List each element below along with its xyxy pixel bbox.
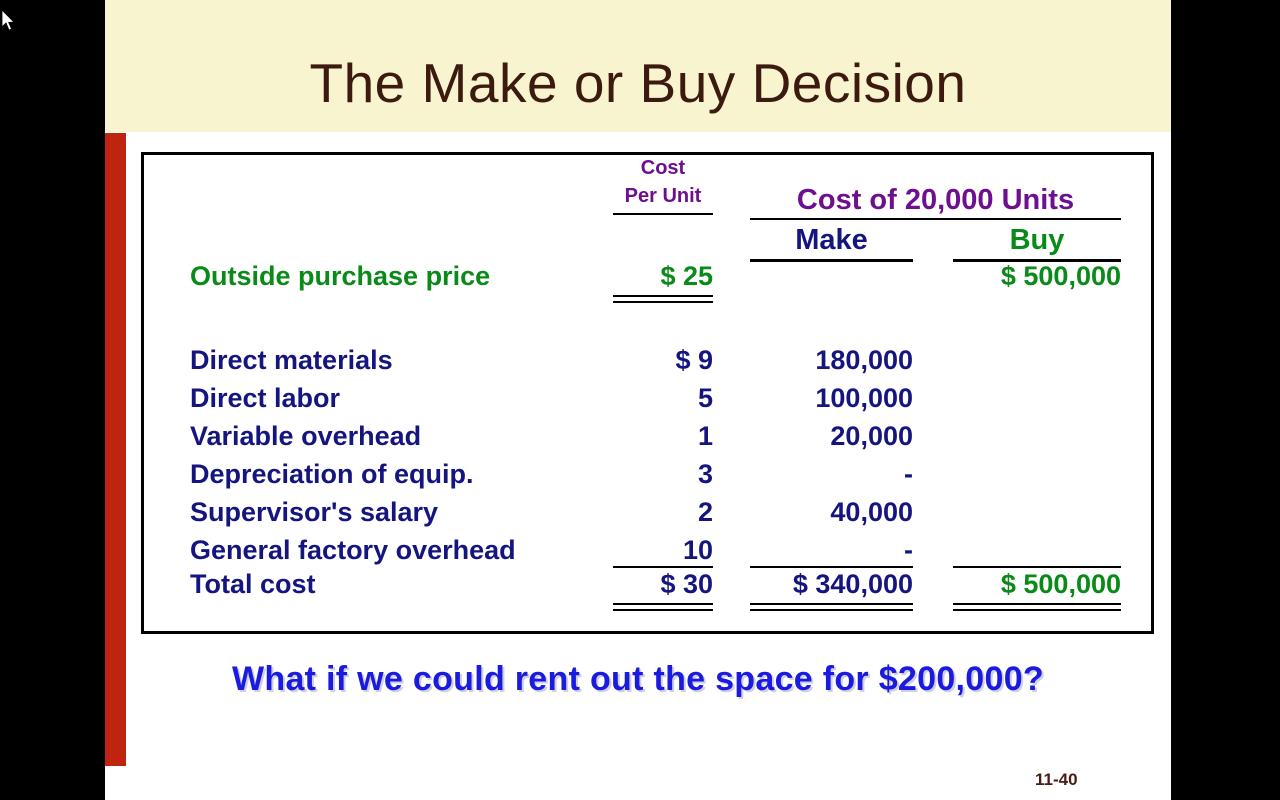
total-per-unit: $ 30 — [613, 569, 713, 600]
row-per-unit: 3 — [613, 459, 713, 490]
table-row: Direct materials $ 9 180,000 — [144, 345, 1151, 387]
row-make: - — [750, 535, 979, 566]
header-cost-of-units: Cost of 20,000 Units — [750, 184, 1121, 217]
table-row: Depreciation of equip. 3 - — [144, 459, 1151, 501]
rule-subtotal-per-unit — [613, 566, 713, 568]
double-rule-bottom-total-per-unit — [613, 609, 713, 611]
row-per-unit: $ 25 — [613, 261, 713, 292]
row-label: Depreciation of equip. — [190, 459, 600, 490]
row-buy: $ 500,000 — [953, 261, 1121, 292]
row-make: 180,000 — [750, 345, 913, 376]
make-or-buy-table: Cost Per Unit Cost of 20,000 Units Make … — [141, 152, 1154, 634]
table-row: Direct labor 5 100,000 — [144, 383, 1151, 425]
row-label: Outside purchase price — [190, 261, 600, 292]
table-row: Supervisor's salary 2 40,000 — [144, 497, 1151, 539]
row-per-unit: 1 — [613, 421, 713, 452]
rule-subtotal-buy — [953, 566, 1121, 568]
double-rule-top-outside-price — [613, 295, 713, 297]
row-per-unit: 5 — [613, 383, 713, 414]
row-label: Direct labor — [190, 383, 600, 414]
total-label: Total cost — [190, 569, 600, 600]
row-make: 40,000 — [750, 497, 913, 528]
header-make: Make — [750, 224, 913, 257]
row-label: Variable overhead — [190, 421, 600, 452]
row-label: General factory overhead — [190, 535, 600, 566]
row-make: 20,000 — [750, 421, 913, 452]
presentation-slide: The Make or Buy Decision Cost Per Unit C… — [105, 0, 1171, 800]
double-rule-top-total-buy — [953, 603, 1121, 605]
double-rule-top-total-per-unit — [613, 603, 713, 605]
slide-question: What if we could rent out the space for … — [105, 660, 1171, 699]
rule-subtotal-make — [750, 566, 913, 568]
row-label: Supervisor's salary — [190, 497, 600, 528]
double-rule-bottom-total-make — [750, 609, 913, 611]
row-label: Direct materials — [190, 345, 600, 376]
rule-cost-of-units — [750, 218, 1121, 220]
header-per-unit: Per Unit — [613, 185, 713, 208]
header-cost: Cost — [613, 157, 713, 180]
rule-per-unit — [613, 213, 713, 215]
double-rule-top-total-make — [750, 603, 913, 605]
row-per-unit: 2 — [613, 497, 713, 528]
row-make: - — [750, 459, 979, 490]
table-row: Variable overhead 1 20,000 — [144, 421, 1151, 463]
header-buy: Buy — [953, 224, 1121, 257]
total-buy: $ 500,000 — [953, 569, 1121, 600]
page-title: The Make or Buy Decision — [105, 52, 1171, 114]
row-per-unit: 10 — [613, 535, 713, 566]
double-rule-bottom-outside-price — [613, 301, 713, 303]
row-per-unit: $ 9 — [613, 345, 713, 376]
double-rule-bottom-total-buy — [953, 609, 1121, 611]
row-make: 100,000 — [750, 383, 913, 414]
desktop-background: The Make or Buy Decision Cost Per Unit C… — [0, 0, 1280, 800]
total-make: $ 340,000 — [750, 569, 913, 600]
page-number: 11-40 — [1035, 770, 1155, 790]
slide-title-band: The Make or Buy Decision — [105, 0, 1171, 132]
mouse-cursor-icon — [2, 10, 16, 32]
